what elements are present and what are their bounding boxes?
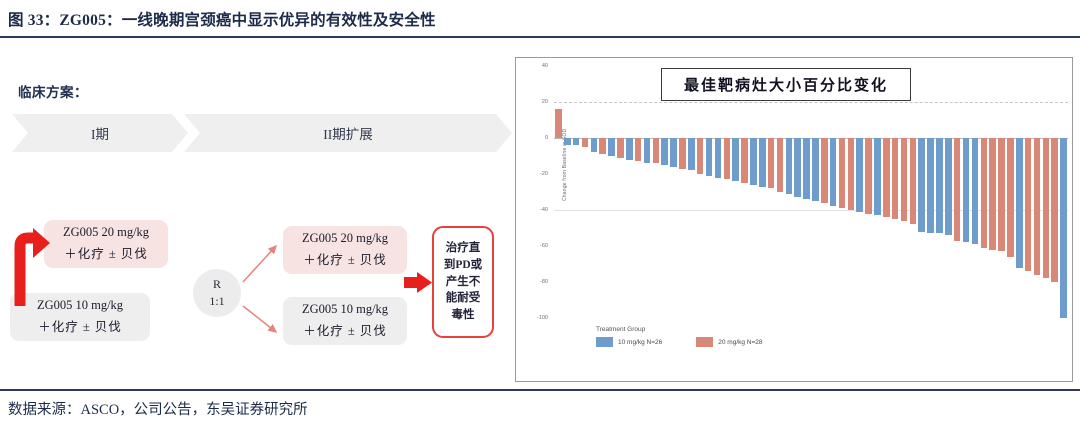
chart-plot-area: Change from Baseline in SOD 40200-20-40-… bbox=[554, 66, 1068, 318]
chart-bar bbox=[724, 138, 731, 179]
chart-bar bbox=[998, 138, 1005, 251]
legend-swatch bbox=[696, 337, 713, 347]
phase1-arm-20mgkg-combo: ＋化疗 ± 贝伐 bbox=[64, 244, 148, 266]
chart-bar bbox=[599, 138, 606, 154]
chart-bar bbox=[1016, 138, 1023, 268]
chart-bar bbox=[927, 138, 934, 233]
chart-bar bbox=[1043, 138, 1050, 278]
chart-bar bbox=[786, 138, 793, 194]
chart-bar bbox=[848, 138, 855, 210]
y-tick-label: 0 bbox=[545, 135, 548, 141]
phase-banner-2: II期扩展 bbox=[184, 114, 512, 152]
chart-bar bbox=[741, 138, 748, 183]
legend-item: 10 mg/kg N=26 bbox=[596, 337, 662, 347]
randomization-ratio: 1:1 bbox=[209, 293, 224, 310]
chart-bar bbox=[794, 138, 801, 197]
chart-bar bbox=[821, 138, 828, 203]
phase-banner-2-label: II期扩展 bbox=[323, 123, 373, 143]
chart-bar bbox=[839, 138, 846, 208]
chart-bar bbox=[688, 138, 695, 170]
chart-bar bbox=[750, 138, 757, 185]
chart-bar bbox=[883, 138, 890, 217]
phase1-arm-10mgkg-combo: ＋化疗 ± 贝伐 bbox=[38, 317, 122, 339]
phase2-arm-20mgkg-combo: ＋化疗 ± 贝伐 bbox=[303, 250, 387, 272]
chart-bar bbox=[981, 138, 988, 248]
legend-swatch bbox=[596, 337, 613, 347]
chart-bar bbox=[661, 138, 668, 165]
source-note: 数据来源：ASCO，公司公告，东吴证券研究所 bbox=[8, 398, 308, 419]
y-tick-label: 20 bbox=[542, 99, 548, 105]
chart-bar bbox=[564, 138, 571, 145]
figure-header: 图 33：ZG005：一线晚期宫颈癌中显示优异的有效性及安全性 bbox=[0, 0, 1080, 38]
chart-bar bbox=[653, 138, 660, 163]
page-title: 图 33：ZG005：一线晚期宫颈癌中显示优异的有效性及安全性 bbox=[8, 8, 1080, 30]
chart-bar bbox=[670, 138, 677, 167]
legend-item: 20 mg/kg N=28 bbox=[696, 337, 762, 347]
chart-bar bbox=[626, 138, 633, 160]
diagram-heading: 临床方案： bbox=[18, 81, 88, 101]
outcome-line-2: 到PD或 bbox=[444, 257, 482, 274]
chart-bar bbox=[706, 138, 713, 176]
phase1-arm-10mgkg-dose: ZG005 10 mg/kg bbox=[37, 295, 123, 317]
footer-divider bbox=[0, 389, 1080, 391]
chart-bars bbox=[554, 66, 1068, 318]
chart-bar bbox=[856, 138, 863, 212]
legend-items: 10 mg/kg N=2620 mg/kg N=28 bbox=[596, 337, 763, 347]
chart-bar bbox=[1034, 138, 1041, 275]
phase2-arm-20mgkg: ZG005 20 mg/kg ＋化疗 ± 贝伐 bbox=[283, 226, 407, 274]
chart-bar bbox=[697, 138, 704, 174]
outcome-line-1: 治疗直 bbox=[446, 240, 481, 257]
chart-bar bbox=[954, 138, 961, 241]
rand-arrow-lower bbox=[243, 306, 276, 332]
phase2-arm-10mgkg-dose: ZG005 10 mg/kg bbox=[302, 299, 388, 321]
chart-bar bbox=[644, 138, 651, 163]
chart-bar bbox=[918, 138, 925, 232]
clinical-trial-diagram: 临床方案： I期 II期扩展 ZG005 20 mg/kg ＋化疗 ± 贝伐 Z… bbox=[0, 44, 512, 386]
y-tick-label: 40 bbox=[542, 63, 548, 69]
chart-bar bbox=[812, 138, 819, 201]
chart-bar bbox=[555, 109, 562, 138]
chart-bar bbox=[582, 138, 589, 147]
chart-bar bbox=[865, 138, 872, 214]
phase1-arm-20mgkg-dose: ZG005 20 mg/kg bbox=[63, 222, 149, 244]
outcome-arrow bbox=[404, 272, 432, 293]
outcome-line-4: 能耐受 bbox=[446, 290, 481, 307]
chart-bar bbox=[759, 138, 766, 187]
treatment-outcome-box: 治疗直 到PD或 产生不 能耐受 毒性 bbox=[432, 226, 494, 338]
y-tick-label: -20 bbox=[540, 171, 548, 177]
legend-title: Treatment Group bbox=[596, 326, 763, 333]
chart-legend: Treatment Group 10 mg/kg N=2620 mg/kg N=… bbox=[596, 326, 763, 347]
chart-bar bbox=[901, 138, 908, 221]
phase2-arm-10mgkg: ZG005 10 mg/kg ＋化疗 ± 贝伐 bbox=[283, 297, 407, 345]
chart-bar bbox=[732, 138, 739, 181]
chart-bar bbox=[608, 138, 615, 156]
phase1-arm-10mgkg: ZG005 10 mg/kg ＋化疗 ± 贝伐 bbox=[10, 293, 150, 341]
chart-bar bbox=[945, 138, 952, 235]
chart-bar bbox=[892, 138, 899, 219]
y-tick-label: -100 bbox=[537, 315, 548, 321]
chart-bar bbox=[679, 138, 686, 169]
chart-bar bbox=[1051, 138, 1058, 282]
chart-bar bbox=[972, 138, 979, 244]
phase1-arm-20mgkg: ZG005 20 mg/kg ＋化疗 ± 贝伐 bbox=[44, 220, 168, 268]
chart-bar bbox=[573, 138, 580, 145]
y-tick-label: -80 bbox=[540, 279, 548, 285]
chart-bar bbox=[1025, 138, 1032, 271]
phase-banner-1-label: I期 bbox=[91, 123, 109, 143]
chart-bar bbox=[768, 138, 775, 188]
chart-bar bbox=[803, 138, 810, 199]
randomization-letter: R bbox=[213, 276, 221, 293]
y-tick-label: -60 bbox=[540, 243, 548, 249]
chart-bar bbox=[1007, 138, 1014, 257]
header-divider bbox=[0, 36, 1080, 38]
chart-bar bbox=[989, 138, 996, 250]
legend-label: 20 mg/kg N=28 bbox=[718, 339, 762, 346]
phase2-arm-20mgkg-dose: ZG005 20 mg/kg bbox=[302, 228, 388, 250]
chart-bar bbox=[777, 138, 784, 192]
waterfall-chart-panel: 最佳靶病灶大小百分比变化 Change from Baseline in SOD… bbox=[515, 57, 1073, 382]
chart-bar bbox=[591, 138, 598, 152]
chart-bar bbox=[1060, 138, 1067, 318]
legend-label: 10 mg/kg N=26 bbox=[618, 339, 662, 346]
chart-bar bbox=[715, 138, 722, 178]
outcome-line-3: 产生不 bbox=[446, 274, 481, 291]
phase2-arm-10mgkg-combo: ＋化疗 ± 贝伐 bbox=[303, 321, 387, 343]
chart-bar bbox=[910, 138, 917, 224]
randomization-node: R 1:1 bbox=[193, 269, 241, 317]
y-tick-label: -40 bbox=[540, 207, 548, 213]
rand-arrow-upper bbox=[243, 246, 276, 282]
chart-bar bbox=[936, 138, 943, 233]
chart-bar bbox=[874, 138, 881, 215]
phase-banner-1: I期 bbox=[12, 114, 188, 152]
chart-bar bbox=[617, 138, 624, 158]
chart-bar bbox=[635, 138, 642, 161]
chart-bar bbox=[830, 138, 837, 206]
chart-bar bbox=[963, 138, 970, 242]
outcome-line-5: 毒性 bbox=[452, 307, 475, 324]
